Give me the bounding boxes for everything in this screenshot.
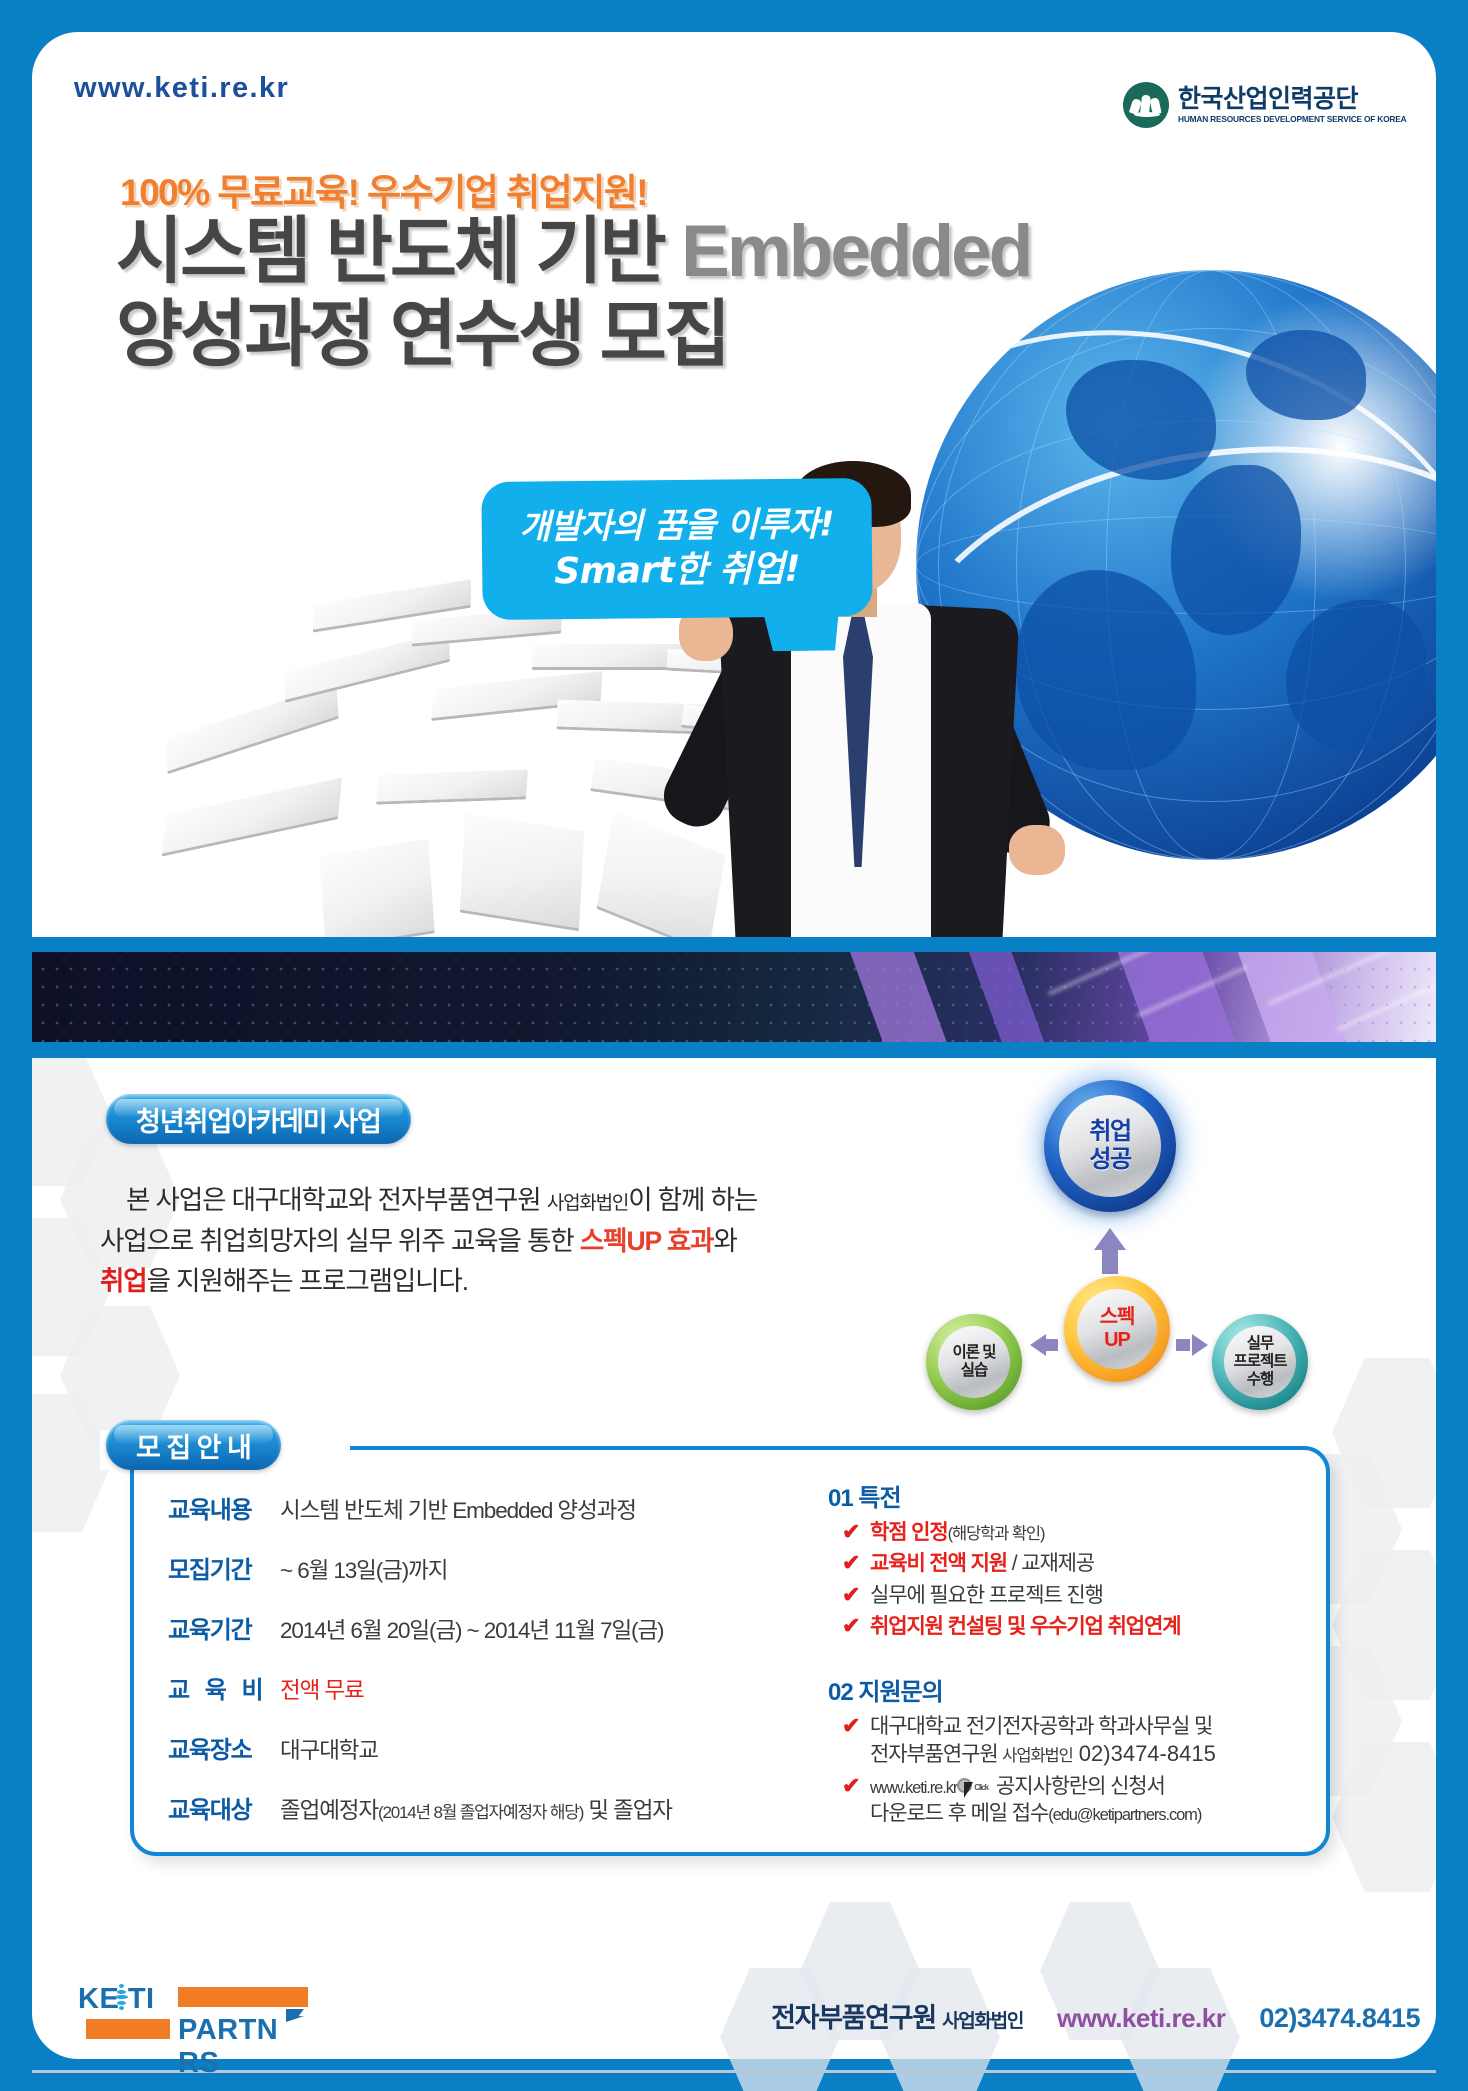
- intro-text-2-highlight: 스펙UP 효과: [580, 1226, 714, 1256]
- inquiry-heading: 02 지원문의: [828, 1672, 1328, 1707]
- check-icon: ✔: [842, 1713, 866, 1738]
- partners-wordmark: PARTN RS: [178, 2014, 308, 2080]
- detail-label: 교 육 비: [168, 1670, 280, 1705]
- orb-practice-line-1: 실무: [1233, 1335, 1286, 1353]
- benefits-and-inquiry-column: 01 특전 ✔ 학점 인정(해당학과 확인) ✔ 교육비 전액 지원 / 교재제…: [828, 1478, 1328, 1832]
- inquiry-line-1: 대구대학교 전기전자공학과 학과사무실 및: [870, 1715, 1212, 1738]
- detail-value-tail: 및 졸업자: [583, 1798, 672, 1823]
- section-recruitment-heading: 모 집 안 내: [106, 1420, 281, 1470]
- intro-text-1-small: 사업화법인: [547, 1193, 628, 1214]
- benefit-item: ✔ 취업지원 컨설팅 및 우수기업 취업연계: [842, 1613, 1328, 1640]
- inquiry-item: ✔ www.keti.re.krClick 공지사항란의 신청서 다운로드 후 …: [842, 1773, 1328, 1828]
- detail-value: 졸업예정자(2014년 8월 졸업자예정자 해당) 및 졸업자: [280, 1793, 672, 1825]
- detail-value: 2014년 6월 20일(금) ~ 2014년 11월 7일(금): [280, 1613, 663, 1645]
- hero-title-1-light: Embedded: [681, 211, 1030, 292]
- orb-theory-line-2: 실습: [952, 1362, 995, 1380]
- orb-theory-practice: 이론 및 실습: [926, 1314, 1022, 1410]
- inquiry-phone[interactable]: 02)3474-8415: [1073, 1741, 1216, 1766]
- inquiry-item: ✔ 대구대학교 전기전자공학과 학과사무실 및 전자부품연구원 사업화법인 02…: [842, 1713, 1328, 1769]
- hero-tagline: 100% 무료교육! 우수기업 취업지원!: [120, 162, 647, 216]
- intro-text-2: 사업으로 취업희망자의 실무 위주 교육을 통한: [100, 1226, 580, 1256]
- keti-partners-logo[interactable]: KE TI PARTN RS: [78, 1983, 308, 2049]
- detail-label: 교육기간: [168, 1610, 280, 1645]
- check-icon: ✔: [842, 1519, 866, 1544]
- detail-label: 교육대상: [168, 1790, 280, 1825]
- benefit-text-main: 실무에 필요한 프로젝트 진행: [870, 1584, 1103, 1607]
- benefit-item: ✔ 교육비 전액 지원 / 교재제공: [842, 1550, 1328, 1577]
- check-icon: ✔: [842, 1773, 866, 1798]
- inquiry-line-2-main: 전자부품연구원: [870, 1743, 1002, 1766]
- intro-paragraph: 본 사업은 대구대학교와 전자부품연구원 사업화법인이 함께 하는 사업으로 취…: [100, 1180, 830, 1302]
- check-icon: ✔: [842, 1550, 866, 1575]
- orb-field-project: 실무 프로젝트 수행: [1212, 1314, 1308, 1410]
- orb-employment-success: 취업 성공: [1044, 1080, 1176, 1212]
- detail-value: ~ 6월 13일(금)까지: [280, 1553, 447, 1585]
- logo-bar-bottom: [86, 2019, 170, 2039]
- inquiry-website-url[interactable]: www.keti.re.kr: [870, 1779, 957, 1797]
- detail-value: 대구대학교: [280, 1733, 378, 1765]
- keti-dna-icon: [113, 1984, 129, 2012]
- speech-bubble-line-2: Smart한 취업!: [554, 546, 800, 594]
- footer-org-note: 사업화법인: [942, 2011, 1023, 2032]
- benefit-text-note: (해당학과 확인): [948, 1525, 1045, 1543]
- benefit-item: ✔ 학점 인정(해당학과 확인): [842, 1519, 1328, 1546]
- hrd-korea-logo: 한국산업인력공단 HUMAN RESOURCES DEVELOPMENT SER…: [1123, 82, 1402, 128]
- detail-row: 교 육 비 전액 무료: [168, 1670, 778, 1705]
- hero-website-url[interactable]: www.keti.re.kr: [74, 72, 289, 105]
- orb-spec-up: 스펙 UP: [1064, 1276, 1170, 1382]
- decorative-dark-band: [32, 952, 1436, 1042]
- benefit-text-main: 교육비 전액 지원: [870, 1552, 1007, 1575]
- hero-title-line-2: 양성과정 연수생 모집: [116, 293, 1030, 376]
- inquiry-line-1-tail: 공지사항란의 신청서: [991, 1775, 1164, 1798]
- arrow-up-icon: [1094, 1228, 1126, 1250]
- orb-success-line-1: 취업: [1089, 1118, 1130, 1146]
- intro-text-3-highlight: 취업: [100, 1266, 147, 1296]
- inquiry-email[interactable]: (edu@ketipartners.com): [1048, 1806, 1201, 1824]
- logo-bar-top: [178, 1987, 308, 2007]
- spec-up-diagram: 취업 성공 스펙 UP 이론 및 실습 실무 프로젝트: [920, 1080, 1340, 1440]
- detail-label: 교육내용: [168, 1490, 280, 1525]
- detail-value: 시스템 반도체 기반 Embedded 양성과정: [280, 1493, 636, 1525]
- orb-spec-line-1: 스펙: [1100, 1306, 1135, 1329]
- orb-practice-line-2: 프로젝트: [1233, 1353, 1286, 1371]
- footer-website-url[interactable]: www.keti.re.kr: [1057, 2003, 1225, 2034]
- footer-phone[interactable]: 02)3474.8415: [1259, 2003, 1420, 2034]
- detail-value-main: 졸업예정자: [280, 1798, 378, 1823]
- check-icon: ✔: [842, 1613, 866, 1638]
- benefit-text-main: 학점 인정: [870, 1521, 948, 1544]
- hero-title-line-1: 시스템 반도체 기반 Embedded: [116, 210, 1030, 293]
- orb-practice-line-3: 수행: [1233, 1371, 1286, 1389]
- speech-bubble: 개발자의 꿈을 이루자! Smart한 취업!: [481, 478, 872, 620]
- benefit-item: ✔ 실무에 필요한 프로젝트 진행: [842, 1582, 1328, 1609]
- detail-label: 교육장소: [168, 1730, 280, 1765]
- footer-org-main: 전자부품연구원: [771, 2003, 942, 2033]
- inquiry-line-2-note: 사업화법인: [1002, 1747, 1072, 1765]
- hero-panel: www.keti.re.kr 한국산업인력공단 HUMAN RESOURCES …: [32, 32, 1436, 937]
- intro-text-1-end: 이 함께 하는: [628, 1185, 757, 1215]
- benefit-text-main: 취업지원 컨설팅 및 우수기업 취업연계: [870, 1615, 1180, 1638]
- detail-row: 교육대상 졸업예정자(2014년 8월 졸업자예정자 해당) 및 졸업자: [168, 1790, 778, 1825]
- hero-title-1-dark: 시스템 반도체 기반: [116, 211, 681, 292]
- detail-row: 교육기간 2014년 6월 20일(금) ~ 2014년 11월 7일(금): [168, 1610, 778, 1645]
- intro-text-3: 을 지원해주는 프로그램입니다.: [147, 1266, 468, 1296]
- inquiry-line-2-main: 다운로드 후 메일 접수: [870, 1802, 1048, 1825]
- footer-organization: 전자부품연구원 사업화법인: [771, 1996, 1023, 2035]
- hrd-name-english: HUMAN RESOURCES DEVELOPMENT SERVICE OF K…: [1178, 115, 1406, 124]
- speech-bubble-line-1: 개발자의 꿈을 이루자!: [519, 504, 834, 550]
- orb-spec-line-2: UP: [1100, 1329, 1135, 1352]
- poster-root: www.keti.re.kr 한국산업인력공단 HUMAN RESOURCES …: [0, 0, 1468, 2091]
- arrow-left-icon-right: [1192, 1334, 1208, 1356]
- benefits-heading: 01 특전: [828, 1478, 1328, 1513]
- click-magnifier-icon: Click: [957, 1778, 991, 1795]
- arrow-left-stem: [1044, 1339, 1058, 1351]
- orb-theory-line-1: 이론 및: [952, 1344, 995, 1362]
- orb-success-line-2: 성공: [1089, 1146, 1130, 1174]
- arrow-up-stem: [1102, 1248, 1118, 1274]
- detail-value-note: (2014년 8월 졸업자예정자 해당): [378, 1803, 583, 1822]
- footer-contact-group: 전자부품연구원 사업화법인 www.keti.re.kr 02)3474.841…: [771, 1996, 1420, 2035]
- detail-value: 전액 무료: [280, 1673, 364, 1705]
- hero-title-block: 시스템 반도체 기반 Embedded 양성과정 연수생 모집: [116, 210, 1030, 376]
- benefit-text-tail: / 교재제공: [1007, 1552, 1094, 1575]
- detail-row: 모집기간 ~ 6월 13일(금)까지: [168, 1550, 778, 1585]
- hrd-name-korean: 한국산업인력공단: [1178, 87, 1402, 112]
- section-youth-academy-heading: 청년취업아카데미 사업: [106, 1094, 411, 1144]
- intro-text-1: 본 사업은 대구대학교와 전자부품연구원: [126, 1185, 547, 1215]
- arrow-right-stem: [1176, 1339, 1190, 1351]
- recruitment-detail-list: 교육내용 시스템 반도체 기반 Embedded 양성과정 모집기간 ~ 6월 …: [168, 1490, 778, 1850]
- hrd-emblem-icon: [1123, 82, 1169, 128]
- intro-text-2-end: 와: [713, 1226, 736, 1256]
- detail-row: 교육내용 시스템 반도체 기반 Embedded 양성과정: [168, 1490, 778, 1525]
- detail-row: 교육장소 대구대학교: [168, 1730, 778, 1765]
- detail-label: 모집기간: [168, 1550, 280, 1585]
- check-icon: ✔: [842, 1582, 866, 1607]
